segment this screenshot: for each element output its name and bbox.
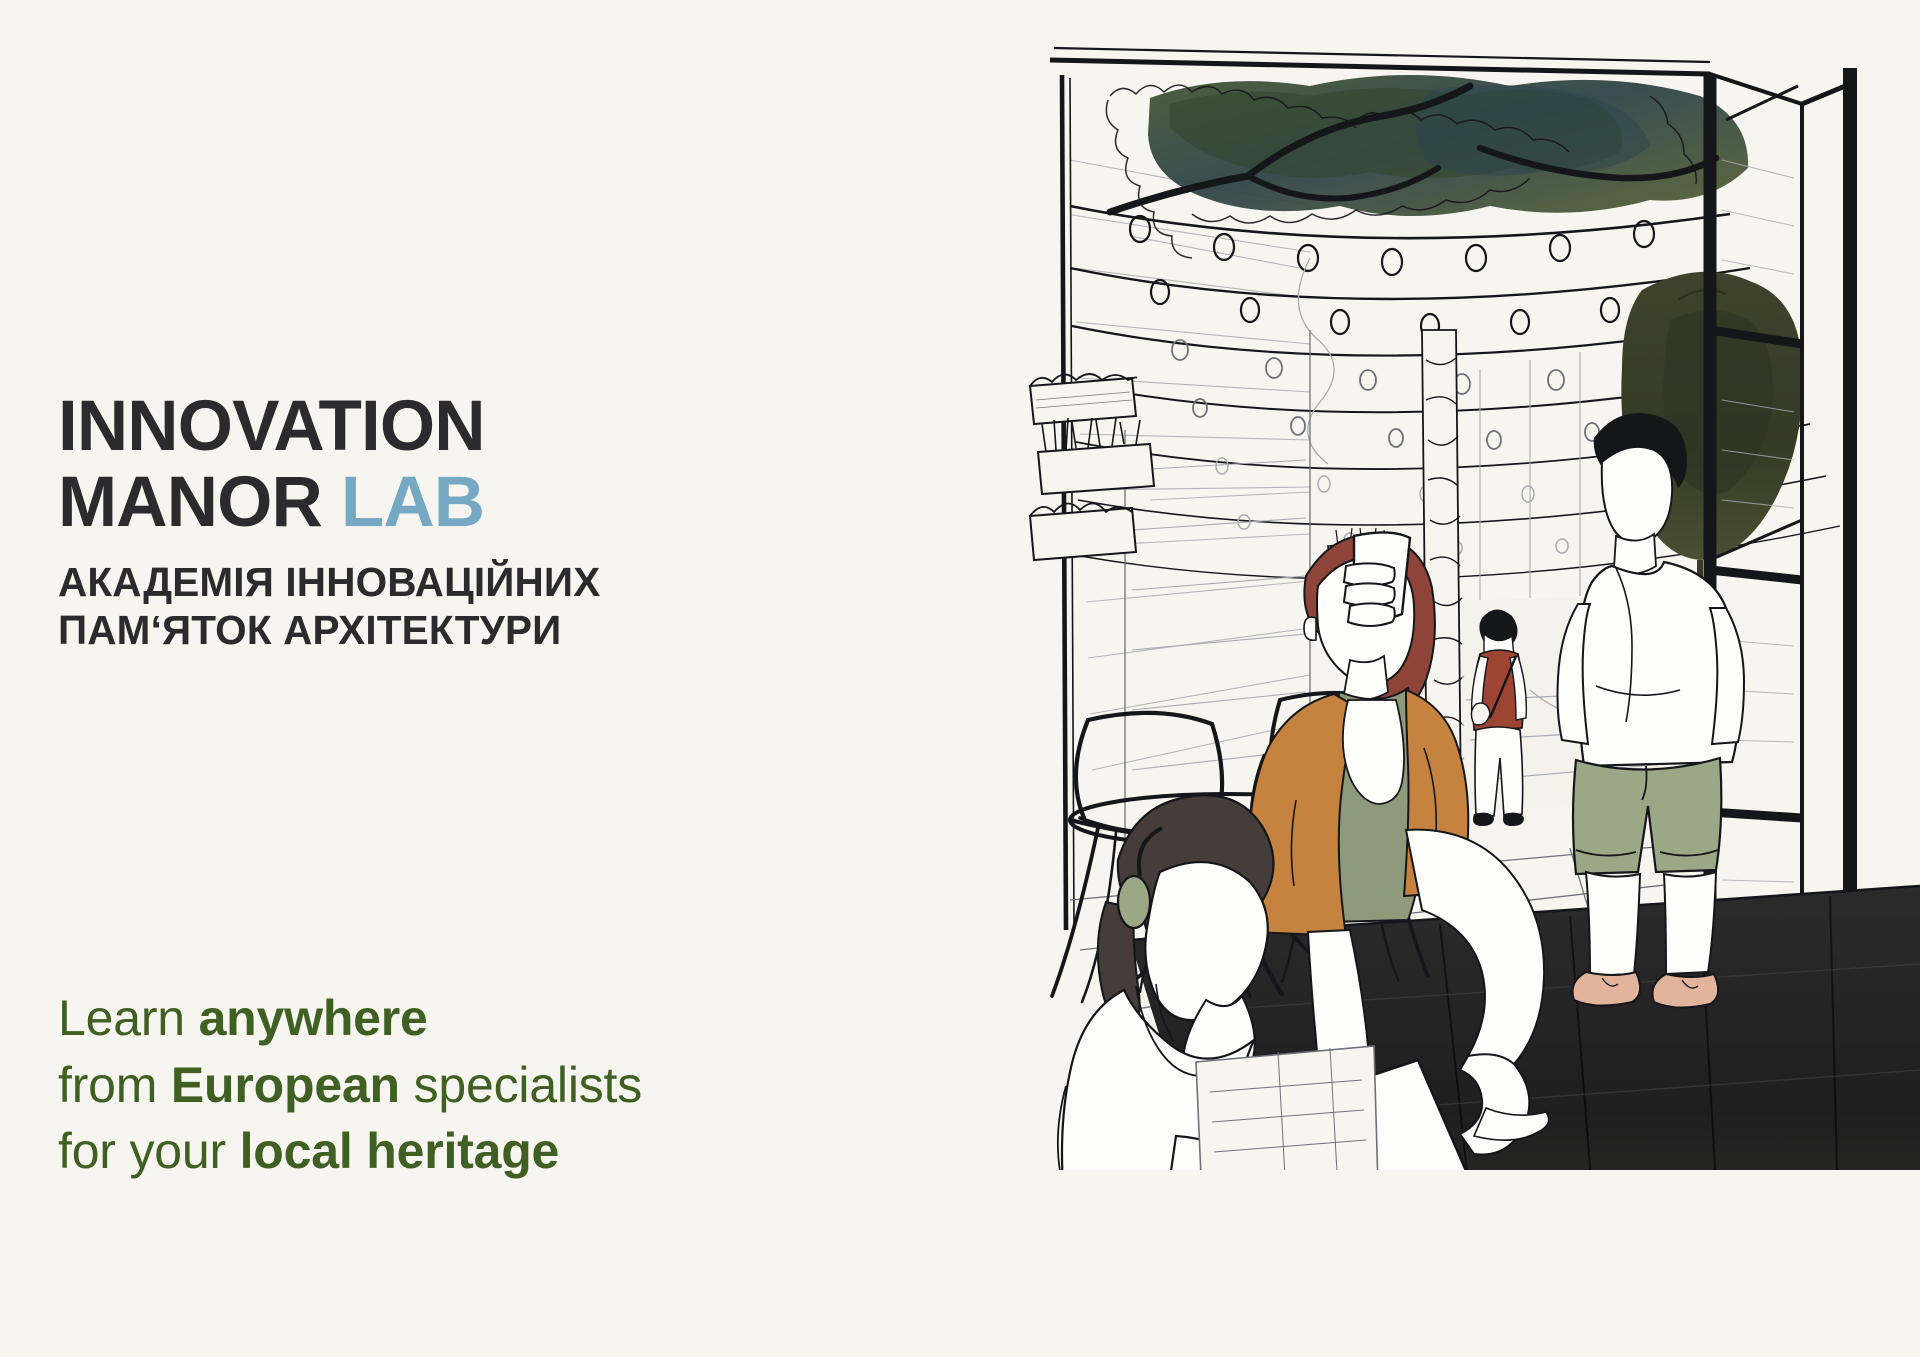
top-beam — [1050, 60, 1710, 74]
overhead-foliage — [1106, 75, 1748, 258]
standing-man-shoe-right — [1653, 974, 1719, 1008]
woman-laptop-shoe-back — [1384, 1245, 1530, 1320]
door-head — [1802, 84, 1850, 104]
standing-man-leg-right — [1664, 872, 1716, 974]
planter-top — [1030, 374, 1136, 424]
tagline-3-bold: local heritage — [240, 1123, 560, 1179]
brand-block: INNOVATION MANOR LAB АКАДЕМІЯ ІННОВАЦІЙН… — [58, 392, 798, 655]
standing-man-leg-left — [1586, 872, 1640, 976]
woman-laptop-trousers-lower — [1080, 1246, 1372, 1357]
woman-laptop-shoe-front — [1409, 1255, 1572, 1336]
tagline-2-plain-b: specialists — [400, 1057, 642, 1113]
poster-canvas: INNOVATION MANOR LAB АКАДЕМІЯ ІННОВАЦІЙН… — [0, 0, 1920, 1357]
planter-grass — [1038, 418, 1154, 494]
tagline-1-bold: anywhere — [199, 990, 428, 1046]
floor-papers — [1196, 1046, 1378, 1200]
brand-word-lab: LAB — [341, 463, 484, 542]
text-column: INNOVATION MANOR LAB АКАДЕМІЯ ІННОВАЦІЙН… — [58, 0, 818, 1357]
brand-subtitle: АКАДЕМІЯ ІННОВАЦІЙНИХ ПАМ‘ЯТОК АРХІТЕКТУ… — [58, 559, 798, 655]
brand-line-1: INNOVATION — [58, 392, 798, 462]
brand-subtitle-line-2: ПАМ‘ЯТОК АРХІТЕКТУРИ — [58, 607, 798, 655]
woman-laptop-trousers-upper — [1100, 1188, 1374, 1330]
left-wall-edge — [1062, 75, 1066, 930]
tagline-2-bold: European — [171, 1057, 400, 1113]
standing-man-shoe-left — [1573, 972, 1641, 1006]
terrace-illustration-svg — [1010, 0, 1920, 1357]
tagline-block: Learn anywhere from European specialists… — [58, 985, 818, 1185]
laptop-base — [1320, 1180, 1510, 1272]
tagline-line-1: Learn anywhere — [58, 985, 818, 1052]
tagline-3-plain: for your — [58, 1123, 240, 1179]
woman-laptop-hand — [1278, 1212, 1330, 1249]
terrace-illustration — [1010, 0, 1920, 1357]
brand-word-manor: MANOR — [58, 463, 322, 542]
tagline-line-3: for your local heritage — [58, 1118, 818, 1185]
woman-laptop-ankle-cuff — [1324, 1264, 1404, 1322]
dangling-wire — [1298, 258, 1334, 464]
planter-bottom — [1030, 503, 1136, 560]
headphone-earcup — [1118, 876, 1150, 928]
tagline-2-plain-a: from — [58, 1057, 171, 1113]
tagline-1-plain: Learn — [58, 990, 199, 1046]
tagline-line-2: from European specialists — [58, 1052, 818, 1119]
brand-line-2: MANOR LAB — [58, 468, 798, 538]
brand-subtitle-line-1: АКАДЕМІЯ ІННОВАЦІЙНИХ — [58, 559, 798, 607]
standing-man-face — [1602, 447, 1672, 543]
